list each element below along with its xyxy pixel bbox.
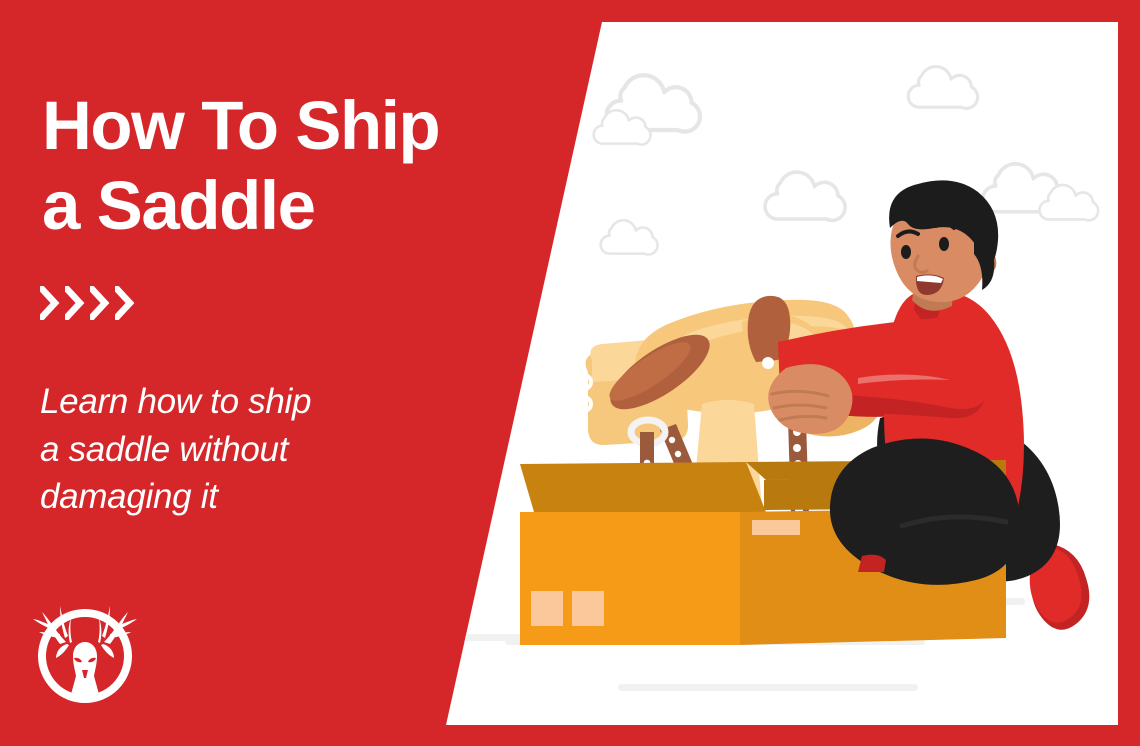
chevron-right-icon [40,286,60,320]
box-label [752,520,800,535]
page-subtitle: Learn how to ship a saddle without damag… [40,378,470,521]
shoe-left-sliver [858,555,886,572]
banner-canvas: How To Ship a Saddle Learn how to ship a… [0,0,1140,746]
text-column: How To Ship a Saddle Learn how to ship a… [0,0,560,746]
eye-right [939,237,949,251]
chevron-right-icon [65,286,85,320]
chevron-right-icon [90,286,110,320]
eye-left [901,245,911,259]
ground-line [618,684,918,691]
chevron-divider [40,286,135,320]
page-title: How To Ship a Saddle [42,86,562,246]
deer-head-logo [26,592,144,710]
deer-ear-left [56,644,69,658]
saddle-stud-icon [762,357,774,369]
deer-ear-right [101,644,114,658]
chevron-right-icon [115,286,135,320]
box-label [572,591,604,626]
